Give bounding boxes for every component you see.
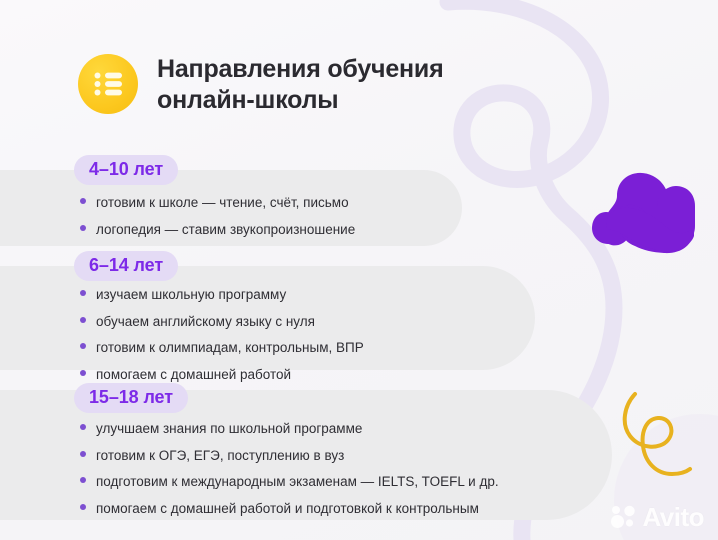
list-item: улучшаем знания по школьной программе (80, 422, 499, 449)
list-item-label: помогаем с домашней работой и подготовко… (96, 502, 479, 516)
list-item-label: готовим к ОГЭ, ЕГЭ, поступлению в вуз (96, 449, 344, 463)
age-badge-2: 6–14 лет (74, 251, 178, 281)
bullet-dot-icon (80, 451, 86, 457)
yellow-cursive-swirl (625, 394, 690, 474)
list-item-label: логопедия — ставим звукопроизношение (96, 223, 355, 237)
list-item-label: обучаем английскому языку с нуля (96, 315, 315, 329)
bullet-dot-icon (80, 424, 86, 430)
bullet-dot-icon (80, 477, 86, 483)
bullet-dot-icon (80, 317, 86, 323)
bullet-dot-icon (80, 225, 86, 231)
section-bullets-3: улучшаем знания по школьной программе го… (80, 422, 499, 515)
age-badge-3: 15–18 лет (74, 383, 188, 413)
list-item: обучаем английскому языку с нуля (80, 315, 364, 342)
list-item-label: помогаем с домашней работой (96, 368, 291, 382)
list-item-label: подготовим к международным экзаменам — I… (96, 475, 499, 489)
purple-hook-shape (592, 173, 695, 253)
header: Направления обучения онлайн-школы (78, 52, 444, 116)
list-item: помогаем с домашней работой (80, 368, 364, 382)
age-badge-1: 4–10 лет (74, 155, 178, 185)
list-item: логопедия — ставим звукопроизношение (80, 223, 355, 237)
bullet-dot-icon (80, 198, 86, 204)
list-item-label: готовим к школе — чтение, счёт, письмо (96, 196, 349, 210)
list-item-label: готовим к олимпиадам, контрольным, ВПР (96, 341, 364, 355)
bullet-dot-icon (80, 370, 86, 376)
avito-watermark: Avito (611, 504, 704, 530)
list-item: готовим к олимпиадам, контрольным, ВПР (80, 341, 364, 368)
page-title: Направления обучения онлайн-школы (157, 52, 444, 116)
list-item: готовим к ОГЭ, ЕГЭ, поступлению в вуз (80, 449, 499, 476)
list-item-label: улучшаем знания по школьной программе (96, 422, 362, 436)
section-bullets-2: изучаем школьную программу обучаем англи… (80, 288, 364, 381)
list-item-label: изучаем школьную программу (96, 288, 286, 302)
section-bullets-1: готовим к школе — чтение, счёт, письмо л… (80, 196, 355, 236)
list-item: готовим к школе — чтение, счёт, письмо (80, 196, 355, 223)
bullet-dot-icon (80, 343, 86, 349)
list-icon-glyph (93, 71, 123, 97)
list-item: помогаем с домашней работой и подготовко… (80, 502, 499, 516)
poster-canvas: Направления обучения онлайн-школы 4–10 л… (0, 0, 718, 540)
list-item: подготовим к международным экзаменам — I… (80, 475, 499, 502)
list-icon (78, 54, 138, 114)
avito-wordmark: Avito (642, 504, 704, 530)
avito-dots-icon (611, 505, 637, 529)
bullet-dot-icon (80, 290, 86, 296)
bullet-dot-icon (80, 504, 86, 510)
list-item: изучаем школьную программу (80, 288, 364, 315)
